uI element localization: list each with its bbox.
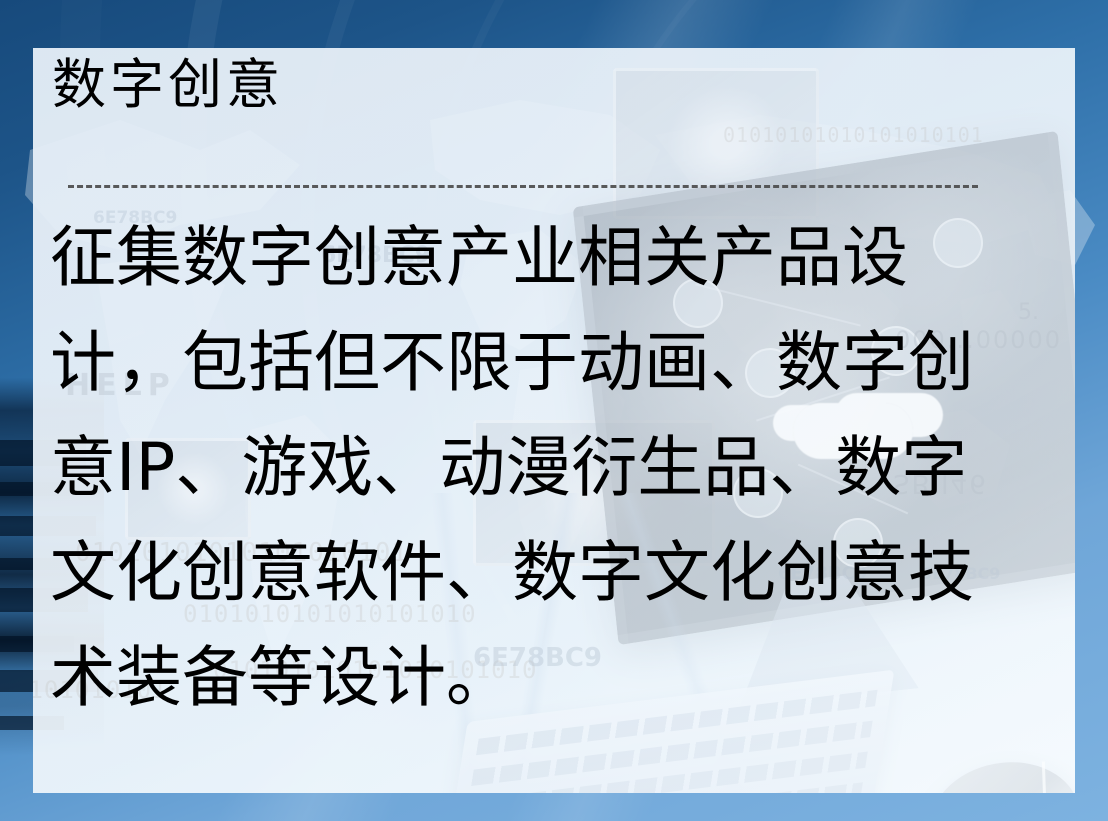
body-line: 征集数字创意产业相关产品设 — [50, 205, 1005, 310]
slide-title: 数字创意 — [52, 55, 284, 114]
body-line: 意IP、游戏、动漫衍生品、数字 — [50, 415, 1005, 520]
body-line: 计，包括但不限于动画、数字创 — [50, 310, 1005, 415]
presentation-slide: HELP 000...00000 SBJI46 5. — [0, 0, 1108, 821]
slide-body-text: 征集数字创意产业相关产品设 计，包括但不限于动画、数字创 意IP、游戏、动漫衍生… — [50, 205, 1005, 730]
body-line: 文化创意软件、数字文化创意技 — [50, 520, 1005, 625]
slide-content: 数字创意 征集数字创意产业相关产品设 计，包括但不限于动画、数字创 意IP、游戏… — [0, 0, 1108, 821]
title-divider — [68, 185, 978, 188]
body-line: 术装备等设计。 — [50, 625, 1005, 730]
